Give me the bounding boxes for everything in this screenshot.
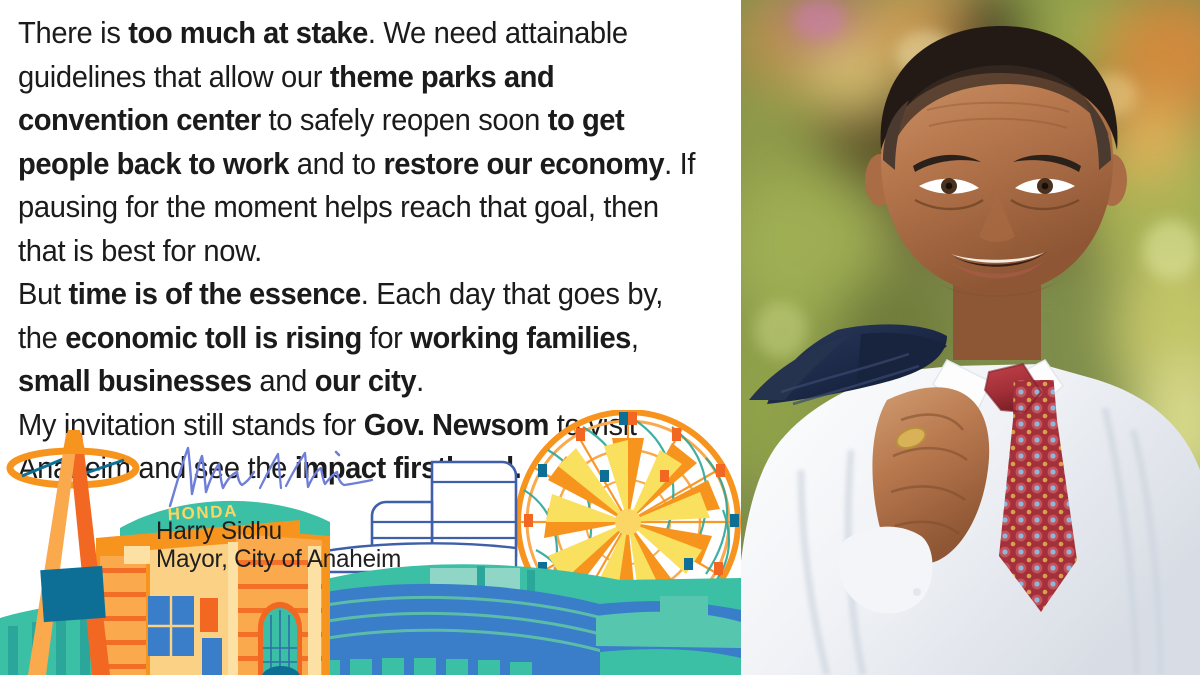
signer-title: Mayor, City of Anaheim (156, 546, 505, 574)
emphasis-text: small businesses (18, 364, 252, 398)
statement-panel: There is too much at stake. We need atta… (0, 0, 741, 675)
emphasis-text: restore our economy (383, 147, 664, 181)
portrait-photo (741, 0, 1200, 675)
body-text: But (18, 277, 68, 311)
body-text: and to (289, 147, 384, 181)
body-text: to safely reopen soon (261, 103, 548, 137)
statement-paragraph-p1: There is too much at stake. We need atta… (18, 12, 698, 273)
body-text: for (362, 321, 411, 355)
emphasis-text: too much at stake (128, 16, 368, 50)
portrait-photo-image (741, 0, 1200, 675)
emphasis-text: our city (315, 364, 416, 398)
body-text: , (631, 321, 639, 355)
signature-block: Harry Sidhu Mayor, City of Anaheim (156, 440, 516, 573)
statement-graphic: There is too much at stake. We need atta… (0, 0, 1200, 675)
emphasis-text: economic toll is rising (65, 321, 362, 355)
statement-paragraph-p2: But time is of the essence. Each day tha… (18, 273, 698, 404)
body-text: There is (18, 16, 128, 50)
signer-identity: Harry Sidhu Mayor, City of Anaheim (156, 518, 505, 573)
signature-icon (164, 440, 379, 510)
body-text: . (416, 364, 424, 398)
signer-name: Harry Sidhu (156, 518, 505, 546)
emphasis-text: time is of the essence (68, 277, 360, 311)
body-text: and (252, 364, 315, 398)
emphasis-text: working families (410, 321, 631, 355)
